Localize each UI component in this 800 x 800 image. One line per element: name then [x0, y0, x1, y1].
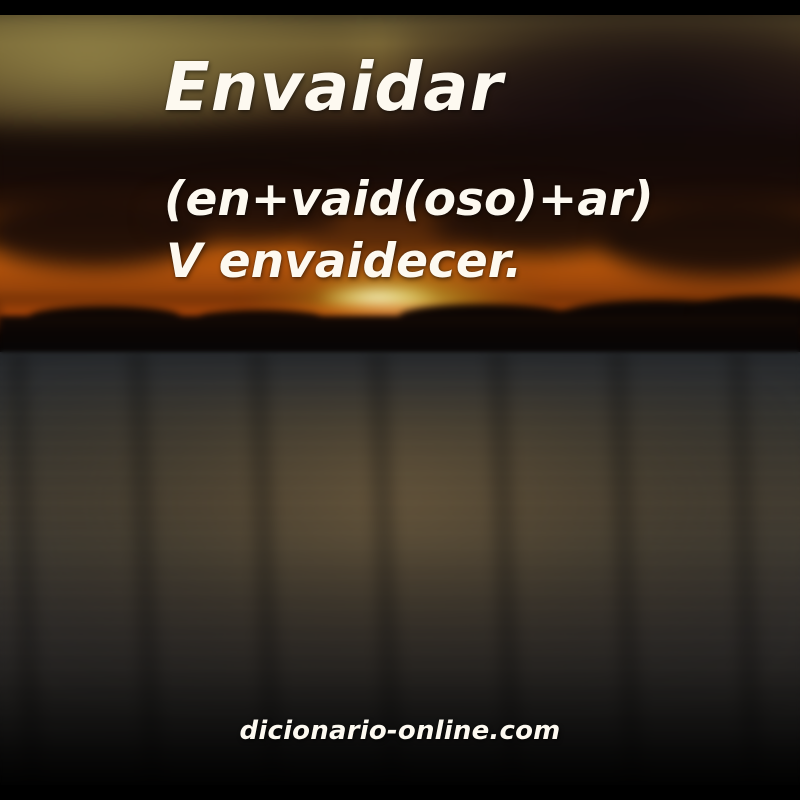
- word-card: Envaidar (en+vaid(oso)+ar) V envaidecer.…: [0, 0, 800, 800]
- cross-reference-line: V envaidecer.: [166, 238, 522, 285]
- site-watermark: dicionario-online.com: [0, 716, 800, 746]
- text-overlay: Envaidar (en+vaid(oso)+ar) V envaidecer.…: [0, 0, 800, 800]
- etymology-line: (en+vaid(oso)+ar): [164, 176, 654, 223]
- headword: Envaidar: [164, 54, 504, 121]
